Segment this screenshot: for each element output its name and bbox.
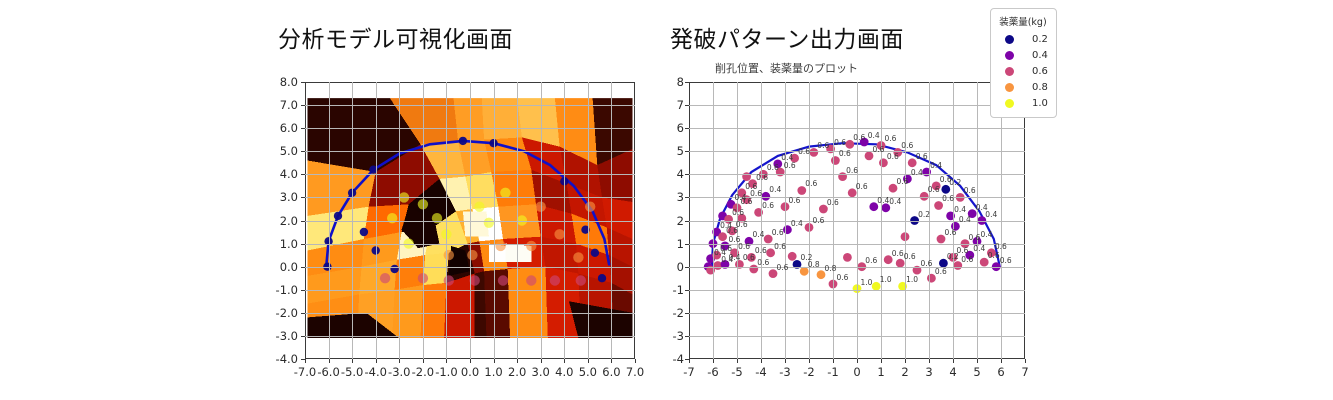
y-axis-tick-label: 4: [654, 167, 684, 181]
x-axis-tick-label: 6: [997, 365, 1004, 379]
gridline-horizontal: [689, 174, 1025, 175]
gridline-horizontal: [305, 313, 635, 314]
y-axis-tick-label: -1.0: [268, 283, 298, 297]
y-axis-tick-label: -3.0: [268, 329, 298, 343]
gridline-horizontal: [689, 221, 1025, 222]
x-axis-tick-label: -5: [731, 365, 742, 379]
heatmap-scatter-point[interactable]: [554, 229, 564, 239]
legend-marker-icon: [1005, 99, 1014, 108]
x-tickmark: [761, 359, 762, 363]
y-axis-tick-label: 2.0: [268, 214, 298, 228]
y-tickmark: [685, 267, 689, 268]
left-panel-title: 分析モデル可視化画面: [278, 20, 513, 54]
gridline-horizontal: [689, 290, 1025, 291]
heatmap-scatter-point[interactable]: [387, 213, 397, 223]
x-tickmark: [881, 359, 882, 363]
x-axis-tick-label: 4: [949, 365, 956, 379]
x-tickmark: [809, 359, 810, 363]
drill-hole-point[interactable]: [819, 205, 828, 214]
legend-item[interactable]: 1.0: [998, 95, 1048, 111]
x-axis-tick-label: -6: [707, 365, 718, 379]
heatmap-scatter-point[interactable]: [432, 213, 442, 223]
y-tickmark: [301, 197, 305, 198]
x-tickmark: [905, 359, 906, 363]
y-axis-tick-label: -1: [654, 283, 684, 297]
drill-hole-point[interactable]: [845, 140, 854, 149]
y-tickmark: [301, 151, 305, 152]
legend-item[interactable]: 0.6: [998, 63, 1048, 79]
drill-hole-point[interactable]: [764, 235, 773, 244]
heatmap-scatter-point[interactable]: [467, 250, 477, 260]
y-tickmark: [685, 105, 689, 106]
gridline-horizontal: [689, 267, 1025, 268]
drill-hole-point[interactable]: [809, 148, 818, 157]
drill-hole-point[interactable]: [728, 227, 737, 236]
drill-hole-point[interactable]: [893, 148, 902, 157]
drill-hole-point[interactable]: [881, 203, 890, 212]
x-tickmark: [564, 359, 565, 363]
heatmap-scatter-point[interactable]: [484, 218, 494, 228]
x-tickmark: [399, 359, 400, 363]
gridline-horizontal: [305, 105, 635, 106]
drill-hole-point[interactable]: [941, 185, 950, 194]
drill-hole-point[interactable]: [965, 251, 974, 260]
x-tickmark: [494, 359, 495, 363]
legend-item[interactable]: 0.2: [998, 31, 1048, 47]
y-tickmark: [301, 221, 305, 222]
heatmap-scatter-point[interactable]: [444, 275, 454, 285]
screenshot-root: 分析モデル可視化画面 -7.0-6.0-5.0-4.0-3.0-2.0-1.00…: [0, 0, 1333, 400]
y-axis-tick-label: -4: [654, 352, 684, 366]
x-axis-tick-label: 7: [1021, 365, 1028, 379]
y-axis-tick-label: 7: [654, 98, 684, 112]
drill-hole-point[interactable]: [848, 188, 857, 197]
x-axis-tick-label: -1.0: [435, 365, 457, 379]
y-tickmark: [301, 174, 305, 175]
analysis-model-plot[interactable]: [305, 82, 635, 359]
legend-item-label: 1.0: [1032, 98, 1048, 109]
gridline-horizontal: [689, 244, 1025, 245]
legend-marker-icon: [1005, 83, 1014, 92]
drill-hole-point[interactable]: [797, 186, 806, 195]
heatmap-scatter-point[interactable]: [573, 252, 583, 262]
drill-hole-point[interactable]: [980, 258, 989, 267]
gridline-horizontal: [689, 313, 1025, 314]
x-axis-tick-label: 0: [853, 365, 860, 379]
x-tickmark: [376, 359, 377, 363]
x-tickmark: [329, 359, 330, 363]
y-tickmark: [301, 336, 305, 337]
drill-hole-point[interactable]: [724, 215, 733, 224]
blasting-pattern-plot[interactable]: 0.40.60.40.40.60.60.40.60.60.60.60.40.60…: [689, 82, 1025, 359]
y-tickmark: [685, 128, 689, 129]
drill-hole-point[interactable]: [869, 202, 878, 211]
x-axis-tick-label: 2.0: [508, 365, 526, 379]
y-axis-tick-label: 5.0: [268, 144, 298, 158]
heatmap-scatter-point[interactable]: [591, 249, 599, 257]
gridline-horizontal: [689, 105, 1025, 106]
drill-hole-point[interactable]: [788, 252, 797, 261]
drill-hole-point[interactable]: [761, 192, 770, 201]
heatmap-scatter-point[interactable]: [444, 250, 454, 260]
drill-hole-point[interactable]: [968, 209, 977, 218]
y-tickmark: [301, 82, 305, 83]
y-tickmark: [685, 313, 689, 314]
heatmap-scatter-point[interactable]: [470, 275, 480, 285]
y-axis-tick-label: 8: [654, 75, 684, 89]
gridline-horizontal: [305, 128, 635, 129]
x-tickmark: [305, 359, 306, 363]
y-axis-tick-label: 0: [654, 260, 684, 274]
y-tickmark: [301, 290, 305, 291]
y-tickmark: [685, 359, 689, 360]
heatmap-scatter-point[interactable]: [459, 137, 467, 145]
y-axis-tick-label: 1.0: [268, 237, 298, 251]
y-tickmark: [301, 128, 305, 129]
x-tickmark: [689, 359, 690, 363]
y-tickmark: [685, 151, 689, 152]
legend-marker-icon: [1005, 51, 1014, 60]
x-axis-tick-label: -7.0: [294, 365, 316, 379]
x-axis-tick-label: 6.0: [602, 365, 620, 379]
x-tickmark: [833, 359, 834, 363]
y-tickmark: [685, 336, 689, 337]
legend-marker-icon: [1005, 35, 1014, 44]
x-axis-tick-label: -6.0: [317, 365, 339, 379]
y-axis-tick-label: 0.0: [268, 260, 298, 274]
drill-hole-point[interactable]: [953, 261, 962, 270]
x-tickmark: [352, 359, 353, 363]
y-axis-tick-label: 5: [654, 144, 684, 158]
y-tickmark: [685, 197, 689, 198]
drill-hole-point[interactable]: [748, 179, 757, 188]
y-axis-tick-label: 8.0: [268, 75, 298, 89]
x-tickmark: [635, 359, 636, 363]
y-tickmark: [685, 221, 689, 222]
charge-weight-legend[interactable]: 装薬量(kg) 0.20.40.60.81.0: [990, 8, 1057, 118]
x-tickmark: [446, 359, 447, 363]
drill-hole-point[interactable]: [937, 235, 946, 244]
heatmap-scatter-point[interactable]: [526, 275, 536, 285]
drill-hole-point[interactable]: [843, 253, 852, 262]
heatmap-scatter-point[interactable]: [585, 202, 595, 212]
gridline-horizontal: [305, 151, 635, 152]
x-tickmark: [541, 359, 542, 363]
x-tickmark: [1001, 359, 1002, 363]
y-axis-tick-label: -2.0: [268, 306, 298, 320]
drill-hole-point[interactable]: [766, 248, 775, 257]
drill-hole-point[interactable]: [934, 201, 943, 210]
x-axis-tick-label: -4.0: [364, 365, 386, 379]
analysis-model-panel: 分析モデル可視化画面 -7.0-6.0-5.0-4.0-3.0-2.0-1.00…: [250, 0, 650, 400]
y-axis-tick-label: 1: [654, 237, 684, 251]
gridline-horizontal: [305, 267, 635, 268]
drill-hole-point[interactable]: [860, 138, 869, 147]
x-tickmark: [785, 359, 786, 363]
y-tickmark: [301, 359, 305, 360]
x-tickmark: [737, 359, 738, 363]
heatmap-scatter-point[interactable]: [498, 275, 508, 285]
x-axis-tick-label: -1: [827, 365, 838, 379]
drill-hole-point[interactable]: [920, 192, 929, 201]
gridline-horizontal: [689, 336, 1025, 337]
legend-item-label: 0.4: [1032, 50, 1048, 61]
gridline-horizontal: [689, 128, 1025, 129]
x-tickmark: [588, 359, 589, 363]
x-axis-tick-label: -5.0: [341, 365, 363, 379]
x-axis-tick-label: 2: [901, 365, 908, 379]
drill-hole-point[interactable]: [908, 158, 917, 167]
drill-hole-point[interactable]: [790, 154, 799, 163]
gridline-horizontal: [305, 244, 635, 245]
x-axis-tick-label: 3.0: [532, 365, 550, 379]
heatmap-scatter-point[interactable]: [380, 273, 390, 283]
x-axis-tick-label: 1.0: [484, 365, 502, 379]
y-tickmark: [301, 244, 305, 245]
y-axis-tick-label: 3: [654, 190, 684, 204]
y-axis-tick-label: 6.0: [268, 121, 298, 135]
heatmap-scatter-point[interactable]: [576, 275, 586, 285]
y-tickmark: [301, 267, 305, 268]
drill-hole-point[interactable]: [800, 267, 809, 276]
y-axis-tick-label: -2: [654, 306, 684, 320]
drill-hole-point[interactable]: [817, 270, 826, 279]
heatmap-scatter-point[interactable]: [474, 202, 484, 212]
right-panel-subtitle: 削孔位置、装薬量のプロット: [715, 60, 858, 76]
gridline-horizontal: [305, 174, 635, 175]
heatmap-scatter-point[interactable]: [495, 241, 505, 251]
x-axis-tick-label: 7.0: [626, 365, 644, 379]
y-tickmark: [685, 174, 689, 175]
x-axis-tick-label: -7: [683, 365, 694, 379]
heatmap-scatter-point[interactable]: [550, 275, 560, 285]
x-tickmark: [953, 359, 954, 363]
x-axis-tick-label: 5.0: [579, 365, 597, 379]
x-axis-tick-label: -3: [779, 365, 790, 379]
x-tickmark: [713, 359, 714, 363]
drill-hole-point[interactable]: [865, 152, 874, 161]
x-axis-tick-label: -2.0: [412, 365, 434, 379]
legend-item[interactable]: 0.8: [998, 79, 1048, 95]
x-tickmark: [517, 359, 518, 363]
x-tickmark: [977, 359, 978, 363]
legend-item-label: 0.6: [1032, 66, 1048, 77]
x-axis-tick-label: -2: [803, 365, 814, 379]
drill-hole-point[interactable]: [769, 269, 778, 278]
y-axis-tick-label: 4.0: [268, 167, 298, 181]
x-tickmark: [470, 359, 471, 363]
right-panel-title: 発破パターン出力画面: [670, 20, 904, 54]
drill-hole-point[interactable]: [718, 232, 727, 241]
x-axis-tick-label: 4.0: [555, 365, 573, 379]
x-axis-tick-label: 5: [973, 365, 980, 379]
heatmap-scatter-point[interactable]: [598, 274, 606, 282]
y-tickmark: [685, 290, 689, 291]
legend-rows: 0.20.40.60.81.0: [998, 31, 1048, 111]
x-axis-tick-label: 1: [877, 365, 884, 379]
x-tickmark: [1025, 359, 1026, 363]
heatmap-scatter-point[interactable]: [334, 212, 342, 220]
x-tickmark: [857, 359, 858, 363]
legend-item-label: 0.8: [1032, 82, 1048, 93]
y-tickmark: [301, 313, 305, 314]
x-axis-tick-label: 3: [925, 365, 932, 379]
x-axis-tick-label: 0.0: [461, 365, 479, 379]
gridline-horizontal: [305, 290, 635, 291]
x-axis-tick-label: -3.0: [388, 365, 410, 379]
legend-title: 装薬量(kg): [998, 14, 1048, 28]
blasting-pattern-panel: 発破パターン出力画面 削孔位置、装薬量のプロット 0.40.60.40.40.6…: [645, 0, 1095, 400]
x-tickmark: [611, 359, 612, 363]
gridline-horizontal: [689, 197, 1025, 198]
drill-hole-point[interactable]: [773, 160, 782, 169]
drill-hole-point[interactable]: [747, 253, 756, 262]
drill-hole-point[interactable]: [884, 255, 893, 264]
heatmap-scatter-point[interactable]: [526, 241, 536, 251]
legend-item[interactable]: 0.4: [998, 47, 1048, 63]
y-axis-tick-label: 7.0: [268, 98, 298, 112]
gridline-horizontal: [305, 197, 635, 198]
y-tickmark: [685, 82, 689, 83]
y-axis-tick-label: -4.0: [268, 352, 298, 366]
drill-hole-point[interactable]: [889, 184, 898, 193]
heatmap-scatter-point[interactable]: [360, 228, 368, 236]
y-tickmark: [301, 105, 305, 106]
x-axis-tick-label: -4: [755, 365, 766, 379]
y-axis-tick-label: 3.0: [268, 190, 298, 204]
x-tickmark: [423, 359, 424, 363]
y-axis-tick-label: -3: [654, 329, 684, 343]
y-axis-tick-label: 2: [654, 214, 684, 228]
y-tickmark: [685, 244, 689, 245]
x-tickmark: [929, 359, 930, 363]
gridline-horizontal: [689, 151, 1025, 152]
y-axis-tick-label: 6: [654, 121, 684, 135]
tunnel-profile-arc: [712, 143, 1000, 267]
drill-hole-point[interactable]: [932, 182, 941, 191]
gridline-horizontal: [305, 221, 635, 222]
gridline-horizontal: [305, 336, 635, 337]
legend-item-label: 0.2: [1032, 34, 1048, 45]
drill-hole-point[interactable]: [987, 248, 996, 257]
legend-marker-icon: [1005, 67, 1014, 76]
